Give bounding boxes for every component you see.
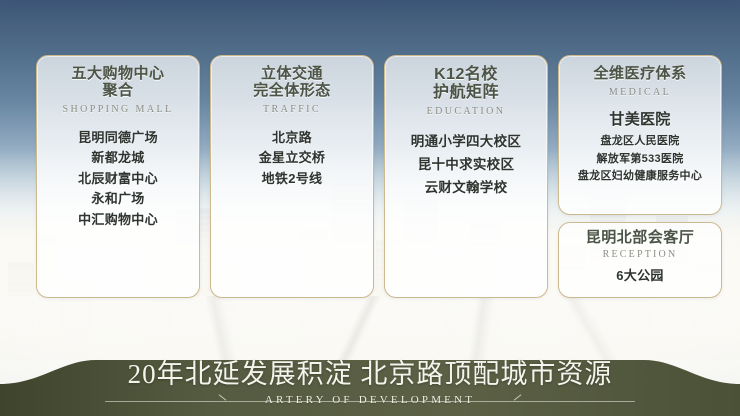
banner-tick-right-icon [514, 394, 522, 400]
list-item-primary: 甘美医院 [565, 106, 715, 133]
card-traffic[interactable]: 立体交通 完全体形态 TRAFFIC 北京路 金星立交桥 地铁2号线 [210, 55, 374, 298]
card-subtitle: SHOPPING MALL [43, 105, 193, 115]
list-item: 昆十中求实校区 [391, 153, 541, 176]
list-item: 新都龙城 [43, 148, 193, 169]
banner-tick-left-icon [219, 394, 227, 400]
list-item: 地铁2号线 [217, 169, 367, 190]
list-item: 云财文翰学校 [391, 176, 541, 199]
list-item: 永和广场 [43, 189, 193, 210]
card-title: K12名校 护航矩阵 [391, 66, 541, 102]
card-item-list: 甘美医院 盘龙区人民医院 解放军第533医院 盘龙区妇幼健康服务中心 [565, 106, 715, 186]
card-content: 立体交通 完全体形态 TRAFFIC 北京路 金星立交桥 地铁2号线 [211, 56, 373, 197]
card-reception[interactable]: 昆明北部会客厅 RECEPTION 6大公园 [558, 222, 722, 298]
card-item-list: 明通小学四大校区 昆十中求实校区 云财文翰学校 [391, 130, 541, 200]
list-item: 北京路 [217, 128, 367, 149]
banner-subline-row: ARTERY OF DEVELOPMENT [105, 395, 635, 406]
card-shopping-mall[interactable]: 五大购物中心 聚合 SHOPPING MALL 昆明同德广场 新都龙城 北辰财富… [36, 55, 200, 298]
card-content: 五大购物中心 聚合 SHOPPING MALL 昆明同德广场 新都龙城 北辰财富… [37, 56, 199, 238]
list-item: 中汇购物中心 [43, 210, 193, 231]
list-item: 昆明同德广场 [43, 128, 193, 149]
card-content: K12名校 护航矩阵 EDUCATION 明通小学四大校区 昆十中求实校区 云财… [385, 56, 547, 207]
list-item: 金星立交桥 [217, 148, 367, 169]
card-item-list: 北京路 金星立交桥 地铁2号线 [217, 128, 367, 190]
card-subtitle: RECEPTION [565, 250, 715, 260]
card-title: 五大购物中心 聚合 [43, 66, 193, 100]
bottom-banner: 20年北延发展积淀 北京路顶配城市资源 ARTERY OF DEVELOPMEN… [0, 354, 740, 416]
banner-text-block: 20年北延发展积淀 北京路顶配城市资源 ARTERY OF DEVELOPMEN… [0, 354, 740, 416]
card-title: 全维医疗体系 [565, 66, 715, 83]
card-item-list: 6大公园 [565, 266, 715, 287]
card-item-list: 昆明同德广场 新都龙城 北辰财富中心 永和广场 中汇购物中心 [43, 128, 193, 231]
list-item: 北辰财富中心 [43, 169, 193, 190]
list-item: 解放军第533医院 [565, 151, 715, 169]
card-subtitle: MEDICAL [565, 88, 715, 98]
card-title: 昆明北部会客厅 [565, 230, 715, 247]
list-item: 6大公园 [565, 266, 715, 287]
slide-stage: 五大购物中心 聚合 SHOPPING MALL 昆明同德广场 新都龙城 北辰财富… [0, 0, 740, 416]
banner-subline: ARTERY OF DEVELOPMENT [261, 395, 479, 406]
card-title: 立体交通 完全体形态 [217, 66, 367, 100]
card-medical[interactable]: 全维医疗体系 MEDICAL 甘美医院 盘龙区人民医院 解放军第533医院 盘龙… [558, 55, 722, 215]
card-subtitle: TRAFFIC [217, 105, 367, 115]
card-subtitle: EDUCATION [391, 107, 541, 117]
card-content: 全维医疗体系 MEDICAL 甘美医院 盘龙区人民医院 解放军第533医院 盘龙… [559, 56, 721, 194]
list-item: 盘龙区人民医院 [565, 133, 715, 151]
list-item: 盘龙区妇幼健康服务中心 [565, 168, 715, 186]
card-education[interactable]: K12名校 护航矩阵 EDUCATION 明通小学四大校区 昆十中求实校区 云财… [384, 55, 548, 298]
list-item: 明通小学四大校区 [391, 130, 541, 153]
card-content: 昆明北部会客厅 RECEPTION 6大公园 [559, 223, 721, 292]
banner-headline: 20年北延发展积淀 北京路顶配城市资源 [128, 361, 613, 388]
